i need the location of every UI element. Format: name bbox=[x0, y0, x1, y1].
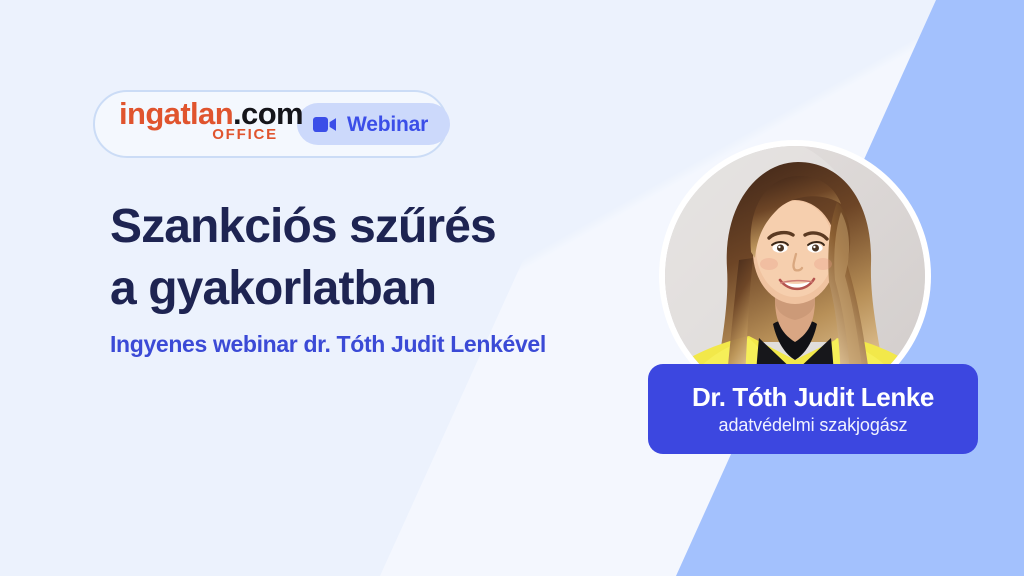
headline-line-2: a gyakorlatban bbox=[110, 258, 670, 320]
ingatlan-office-logo[interactable]: ingatlan.com OFFICE bbox=[119, 100, 279, 148]
video-camera-icon bbox=[313, 116, 337, 133]
promo-banner: ingatlan.com OFFICE Webinar Szankciós sz… bbox=[0, 0, 1024, 576]
speaker-nameplate: Dr. Tóth Judit Lenke adatvédelmi szakjog… bbox=[648, 364, 978, 454]
subheadline: Ingyenes webinar dr. Tóth Judit Lenkével bbox=[110, 331, 670, 357]
webinar-pill[interactable]: Webinar bbox=[297, 103, 450, 145]
brand-badge: ingatlan.com OFFICE Webinar bbox=[93, 90, 448, 158]
logo-sub-word: OFFICE bbox=[212, 127, 278, 142]
webinar-pill-label: Webinar bbox=[347, 114, 428, 135]
logo-wordmark: ingatlan.com bbox=[119, 98, 303, 129]
headline-block: Szankciós szűrés a gyakorlatban Ingyenes… bbox=[110, 196, 670, 357]
headline-line-1: Szankciós szűrés bbox=[110, 196, 670, 258]
speaker-role: adatvédelmi szakjogász bbox=[719, 415, 908, 436]
speaker-name: Dr. Tóth Judit Lenke bbox=[692, 383, 934, 413]
